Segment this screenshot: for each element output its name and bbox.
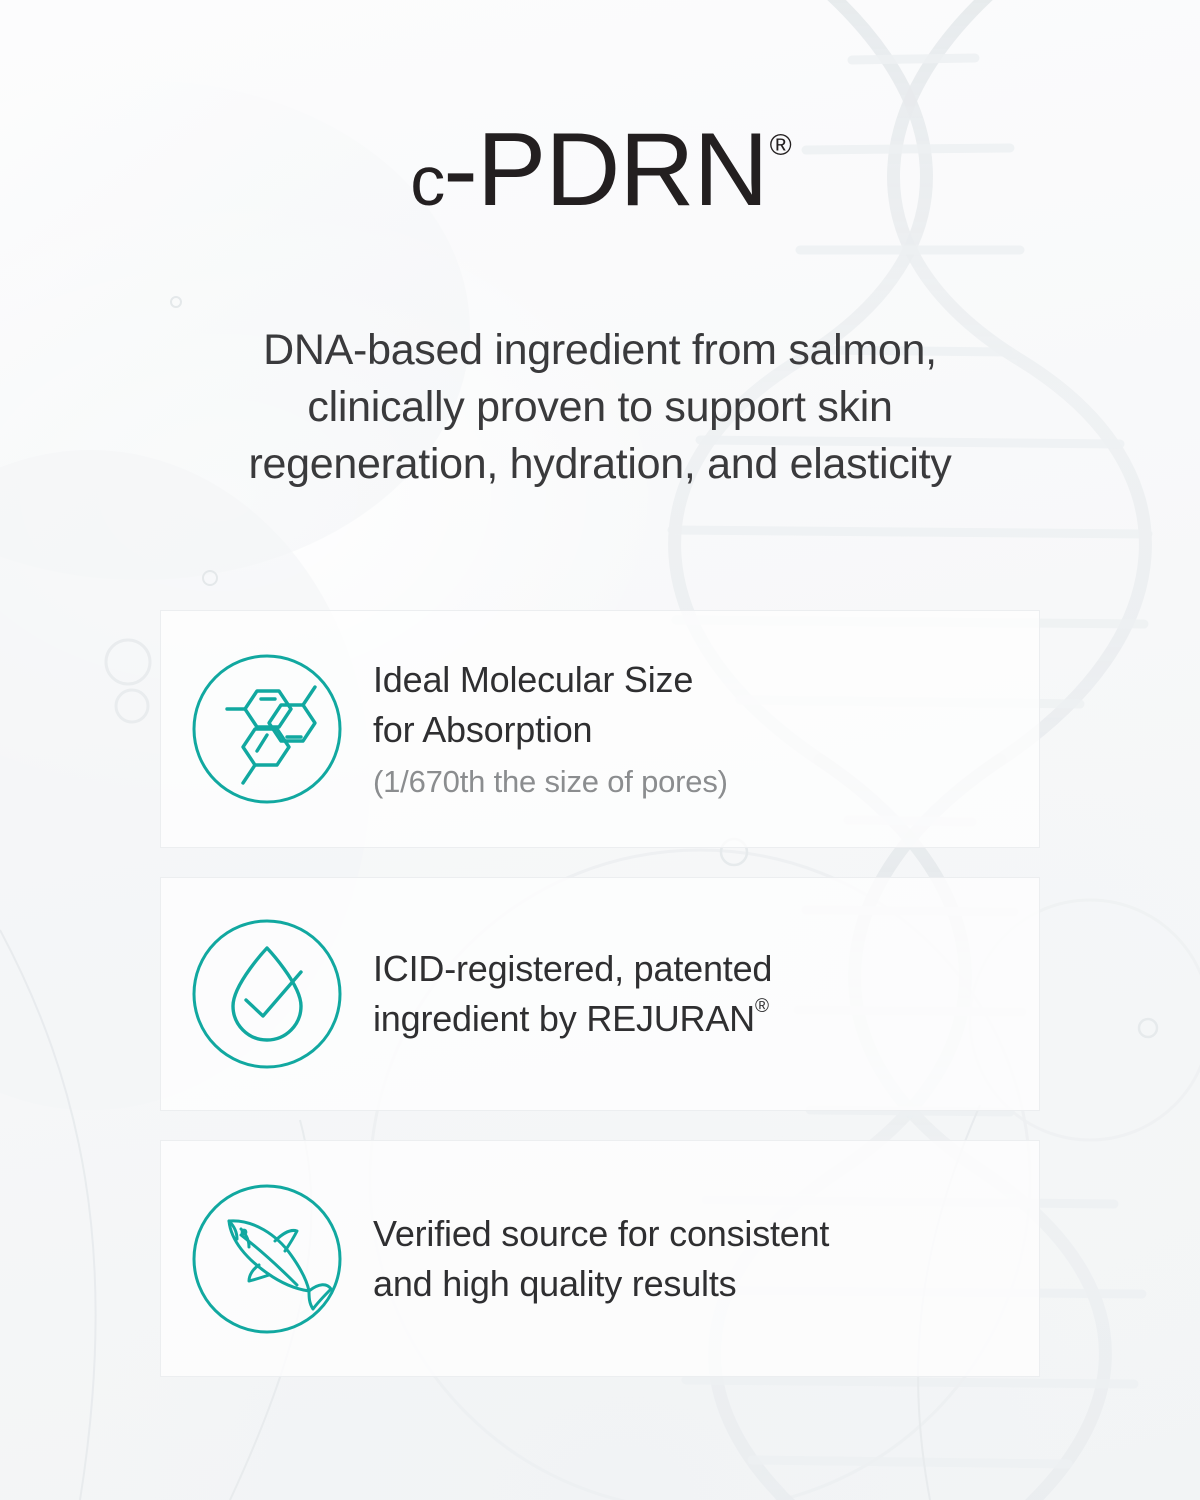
feature-heading-line-2: ingredient by REJURAN® [373, 994, 999, 1044]
feature-heading-line-2: and high quality results [373, 1259, 999, 1309]
feature-card-text: ICID-registered, patented ingredient by … [373, 944, 1039, 1043]
feature-heading-line-2-text: ingredient by REJURAN [373, 998, 755, 1039]
registered-mark-icon: ® [755, 996, 769, 1017]
feature-card-text: Verified source for consistent and high … [373, 1209, 1039, 1308]
feature-heading-line-1: ICID-registered, patented [373, 944, 999, 994]
feature-heading: Verified source for consistent and high … [373, 1209, 999, 1308]
feature-heading-line-1: Ideal Molecular Size [373, 655, 999, 705]
feature-heading-line-1: Verified source for consistent [373, 1209, 999, 1259]
feature-card-list: Ideal Molecular Size for Absorption (1/6… [160, 610, 1040, 1377]
feature-icon-wrap [161, 653, 373, 805]
registered-mark-icon: ® [770, 129, 792, 162]
feature-subtext: (1/670th the size of pores) [373, 761, 999, 803]
subtitle-line-3: regeneration, hydration, and elasticity [120, 436, 1080, 493]
title-block: c-PDRN® [0, 118, 1200, 222]
molecule-hexagon-icon [191, 653, 343, 805]
feature-heading-line-2: for Absorption [373, 705, 999, 755]
salmon-fish-icon [191, 1183, 343, 1335]
feature-heading: ICID-registered, patented ingredient by … [373, 944, 999, 1043]
subtitle-line-2: clinically proven to support skin [120, 379, 1080, 436]
subtitle-line-1: DNA-based ingredient from salmon, [120, 322, 1080, 379]
page-root: c-PDRN® DNA-based ingredient from salmon… [0, 0, 1200, 1500]
water-drop-check-icon [191, 918, 343, 1070]
brand-name: -PDRN [443, 112, 767, 228]
feature-heading: Ideal Molecular Size for Absorption [373, 655, 999, 754]
page-title: c-PDRN® [0, 118, 1200, 222]
feature-icon-wrap [161, 1183, 373, 1335]
feature-card-verified-source: Verified source for consistent and high … [160, 1140, 1040, 1377]
feature-card-molecular-size: Ideal Molecular Size for Absorption (1/6… [160, 610, 1040, 848]
feature-card-icid-registered: ICID-registered, patented ingredient by … [160, 877, 1040, 1111]
brand-lead-letter: c [410, 142, 443, 220]
subtitle: DNA-based ingredient from salmon, clinic… [120, 322, 1080, 494]
feature-card-text: Ideal Molecular Size for Absorption (1/6… [373, 655, 1039, 802]
feature-icon-wrap [161, 918, 373, 1070]
